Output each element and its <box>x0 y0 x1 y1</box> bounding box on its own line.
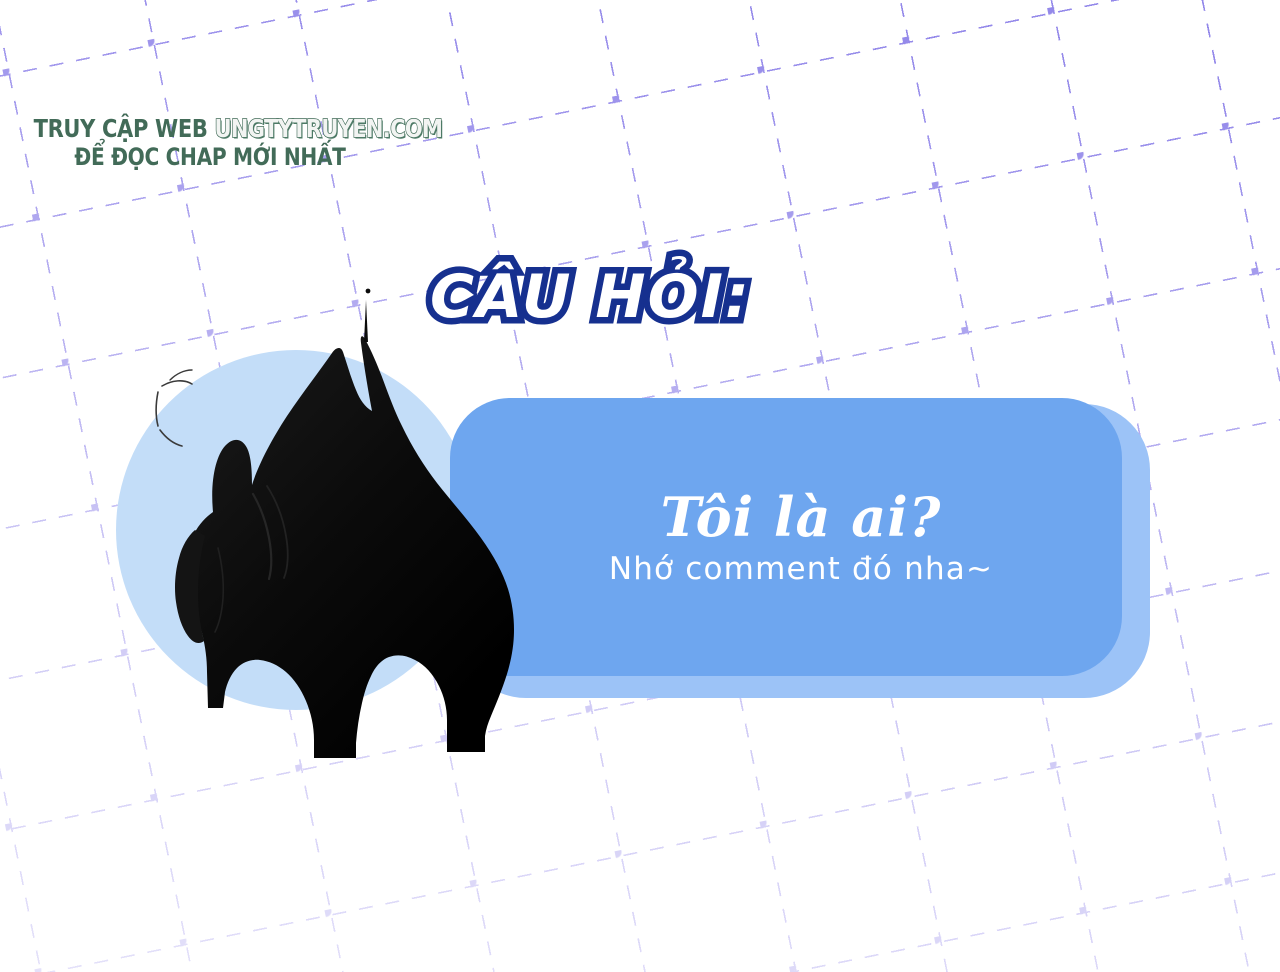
character-silhouette <box>100 280 570 780</box>
page-title: CÂU HỎI: <box>430 262 751 332</box>
watermark-prefix-text: TRUY CẬP WEB <box>34 114 215 143</box>
comic-panel: TRUY CẬP WEB UNGTYTRUYEN.COM ĐỂ ĐỌC CHAP… <box>0 0 1280 972</box>
watermark-line-1: TRUY CẬP WEB UNGTYTRUYEN.COM <box>34 116 387 143</box>
watermark-line-2: ĐỂ ĐỌC CHAP MỚI NHẤT <box>34 145 387 170</box>
site-watermark: TRUY CẬP WEB UNGTYTRUYEN.COM ĐỂ ĐỌC CHAP… <box>0 116 420 170</box>
bubble-question-text: Tôi là ai? <box>661 490 942 544</box>
watermark-domain-text: UNGTYTRUYEN.COM <box>215 114 443 143</box>
bubble-subtext: Nhớ comment đó nha~ <box>609 554 993 585</box>
